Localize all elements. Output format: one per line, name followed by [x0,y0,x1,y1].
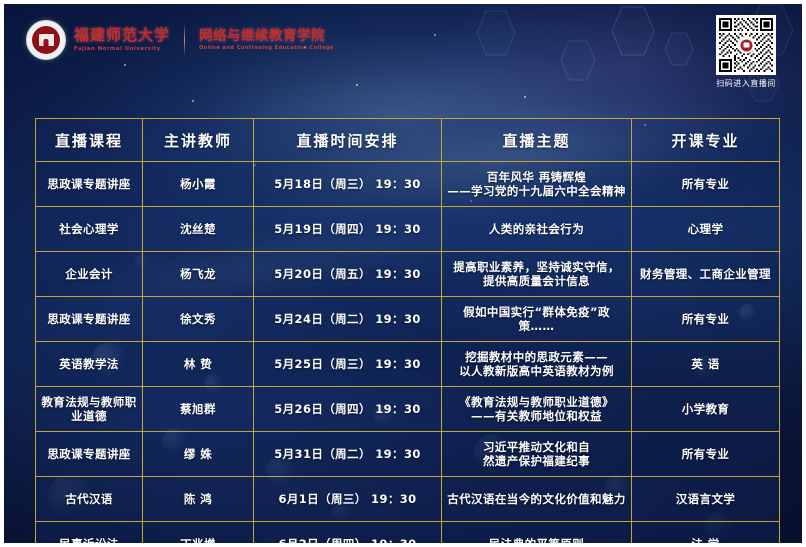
cell-teacher: 蔡旭群 [143,387,254,432]
cell-course: 古代汉语 [36,477,143,522]
table-row: 社会心理学 沈丝楚 5月19日（周四） 19：30 人类的亲社会行为 心理学 [36,207,780,252]
cell-major: 汉语言文学 [632,477,780,522]
column-header-course: 直播课程 [36,119,143,162]
poster-header: 福建师范大学 Fujian Normal University 网络与继续教育学… [4,4,802,108]
cell-teacher: 徐文秀 [143,297,254,342]
qr-block[interactable]: 扫码进入直播间 [713,15,779,89]
cell-teacher: 沈丝楚 [143,207,254,252]
cell-time: 5月26日（周四） 19：30 [254,387,442,432]
cell-teacher: 林 贽 [143,342,254,387]
table-header-row: 直播课程 主讲教师 直播时间安排 直播主题 开课专业 [36,119,780,162]
cell-topic: 百年风华 再铸辉煌 ——学习党的十九届六中全会精神 [442,162,632,207]
cell-topic: 挖掘教材中的思政元素—— 以人教新版高中英语教材为例 [442,342,632,387]
column-header-major: 开课专业 [632,119,780,162]
column-header-time: 直播时间安排 [254,119,442,162]
table-row: 民事诉讼法 丁兆增 6月2日（周四） 19：30 民法典的平等原则 法 学 [36,522,780,547]
cell-teacher: 杨飞龙 [143,252,254,297]
topic-line-2: ——有关教师地位和权益 [446,409,627,423]
topic-line-1: 提高职业素养，坚持诚实守信， [446,260,627,274]
cell-major: 小学教育 [632,387,780,432]
university-name-en: Fujian Normal University [74,46,170,52]
topic-line-1: 假如中国实行“群体免疫”政策…… [446,305,627,334]
column-header-teacher: 主讲教师 [143,119,254,162]
cell-major: 财务管理、工商企业管理 [632,252,780,297]
cell-course: 思政课专题讲座 [36,297,143,342]
column-header-topic: 直播主题 [442,119,632,162]
qr-center-logo-icon [738,37,755,54]
brand-lockup: 福建师范大学 Fujian Normal University 网络与继续教育学… [26,20,334,60]
cell-topic: 习近平推动文化和自 然遗产保护福建纪事 [442,432,632,477]
cell-time: 5月18日（周三） 19：30 [254,162,442,207]
cell-major: 所有专业 [632,432,780,477]
university-name-block: 福建师范大学 Fujian Normal University [74,28,170,52]
university-name-cn: 福建师范大学 [74,28,170,44]
table-row: 英语教学法 林 贽 5月25日（周三） 19：30 挖掘教材中的思政元素—— 以… [36,342,780,387]
topic-line-1: 民法典的平等原则 [446,537,627,547]
table-row: 企业会计 杨飞龙 5月20日（周五） 19：30 提高职业素养，坚持诚实守信， … [36,252,780,297]
cell-course: 企业会计 [36,252,143,297]
college-name-cn: 网络与继续教育学院 [199,29,334,43]
cell-course: 思政课专题讲座 [36,162,143,207]
college-name-block: 网络与继续教育学院 Online and Continuing Educatio… [199,29,334,51]
table-row: 古代汉语 陈 鸿 6月1日（周三） 19：30 古代汉语在当今的文化价值和魅力 … [36,477,780,522]
cell-major: 英 语 [632,342,780,387]
topic-line-1: 古代汉语在当今的文化价值和魅力 [446,492,627,506]
cell-course: 民事诉讼法 [36,522,143,547]
topic-line-2: ——学习党的十九届六中全会精神 [446,184,627,198]
cell-time: 5月25日（周三） 19：30 [254,342,442,387]
cell-major: 所有专业 [632,162,780,207]
college-name-en: Online and Continuing Education College [199,45,334,51]
cell-teacher: 丁兆增 [143,522,254,547]
cell-major: 心理学 [632,207,780,252]
cell-topic: 人类的亲社会行为 [442,207,632,252]
cell-time: 5月20日（周五） 19：30 [254,252,442,297]
cell-course: 英语教学法 [36,342,143,387]
livestream-schedule-poster: 福建师范大学 Fujian Normal University 网络与继续教育学… [0,0,806,547]
schedule-table-body: 思政课专题讲座 杨小霞 5月18日（周三） 19：30 百年风华 再铸辉煌 ——… [36,162,780,547]
cell-topic: 民法典的平等原则 [442,522,632,547]
cell-teacher: 陈 鸿 [143,477,254,522]
cell-topic: 《教育法规与教师职业道德》 ——有关教师地位和权益 [442,387,632,432]
cell-course: 教育法规与教师职业道德 [36,387,143,432]
cell-time: 6月2日（周四） 19：30 [254,522,442,547]
cell-topic: 提高职业素养，坚持诚实守信， 提供高质量会计信息 [442,252,632,297]
topic-line-1: 习近平推动文化和自 [446,440,627,454]
cell-time: 6月1日（周三） 19：30 [254,477,442,522]
topic-line-2: 以人教新版高中英语教材为例 [446,364,627,378]
qr-code-image[interactable] [716,15,776,75]
cell-course: 社会心理学 [36,207,143,252]
topic-line-2: 提供高质量会计信息 [446,274,627,288]
cell-topic: 假如中国实行“群体免疫”政策…… [442,297,632,342]
topic-line-1: 人类的亲社会行为 [446,222,627,236]
table-row: 思政课专题讲座 杨小霞 5月18日（周三） 19：30 百年风华 再铸辉煌 ——… [36,162,780,207]
cell-teacher: 杨小霞 [143,162,254,207]
schedule-table-head: 直播课程 主讲教师 直播时间安排 直播主题 开课专业 [36,119,780,162]
brand-divider [184,25,185,55]
table-row: 思政课专题讲座 徐文秀 5月24日（周二） 19：30 假如中国实行“群体免疫”… [36,297,780,342]
topic-line-1: 《教育法规与教师职业道德》 [446,395,627,409]
table-row: 思政课专题讲座 缪 姝 5月31日（周二） 19：30 习近平推动文化和自 然遗… [36,432,780,477]
cell-time: 5月19日（周四） 19：30 [254,207,442,252]
cell-time: 5月24日（周二） 19：30 [254,297,442,342]
topic-line-1: 挖掘教材中的思政元素—— [446,350,627,364]
cell-course: 思政课专题讲座 [36,432,143,477]
cell-major: 法 学 [632,522,780,547]
cell-time: 5月31日（周二） 19：30 [254,432,442,477]
schedule-table-wrap: 直播课程 主讲教师 直播时间安排 直播主题 开课专业 思政课专题讲座 杨小霞 5… [35,118,779,547]
topic-line-1: 百年风华 再铸辉煌 [446,170,627,184]
university-crest-icon [26,20,66,60]
cell-topic: 古代汉语在当今的文化价值和魅力 [442,477,632,522]
table-row: 教育法规与教师职业道德 蔡旭群 5月26日（周四） 19：30 《教育法规与教师… [36,387,780,432]
qr-caption: 扫码进入直播间 [713,78,779,89]
topic-line-2: 然遗产保护福建纪事 [446,454,627,468]
cell-teacher: 缪 姝 [143,432,254,477]
schedule-table: 直播课程 主讲教师 直播时间安排 直播主题 开课专业 思政课专题讲座 杨小霞 5… [35,118,780,547]
cell-major: 所有专业 [632,297,780,342]
